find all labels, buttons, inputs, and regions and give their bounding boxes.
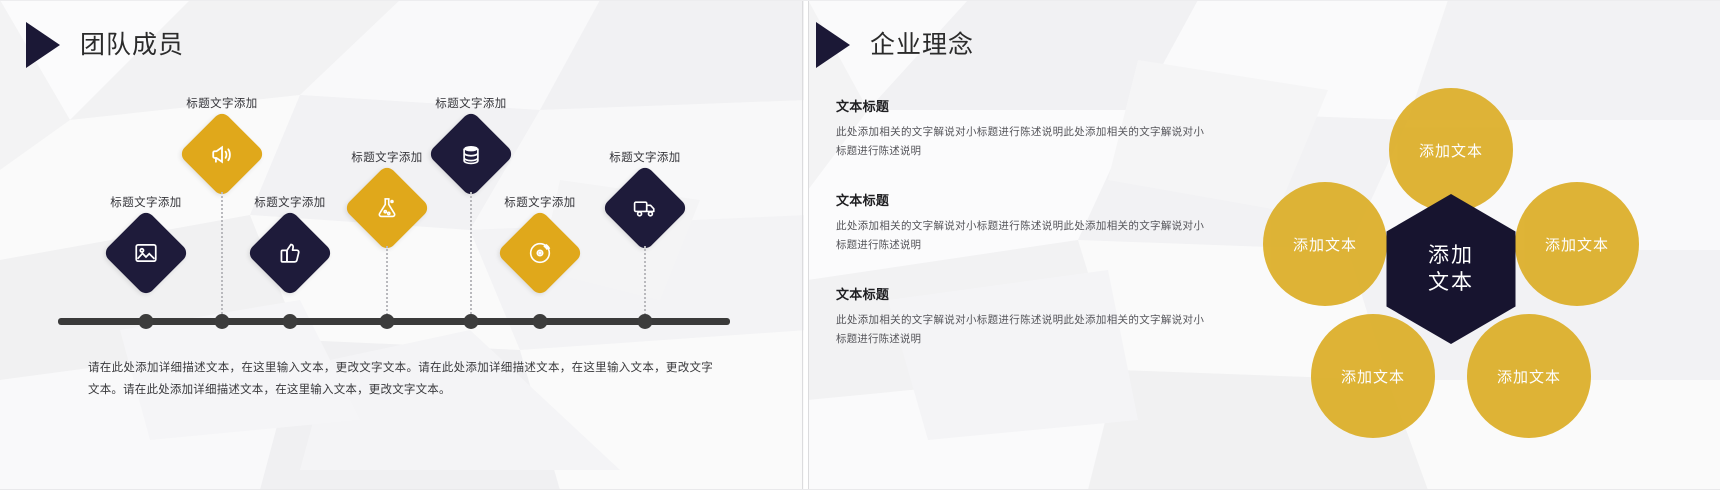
timeline-stem	[644, 246, 646, 318]
play-triangle-icon	[816, 22, 850, 68]
timeline-item-badge[interactable]	[427, 110, 515, 198]
slide-right-header: 企业理念	[816, 22, 974, 68]
slide-company-philosophy: 企业理念 文本标题 此处添加相关的文字解说对小标题进行陈述说明此处添加相关的文字…	[808, 0, 1720, 490]
flask-icon	[374, 195, 400, 221]
text-block-title: 文本标题	[836, 96, 1204, 115]
text-block: 文本标题 此处添加相关的文字解说对小标题进行陈述说明此处添加相关的文字解说对小标…	[836, 190, 1204, 256]
flower-petal[interactable]: 添加文本	[1467, 314, 1591, 438]
timeline-dot[interactable]	[638, 314, 653, 329]
flower-petal-label: 添加文本	[1341, 366, 1405, 387]
timeline-item-label: 标题文字添加	[435, 95, 506, 111]
timeline-dot[interactable]	[283, 314, 298, 329]
flower-petal-label: 添加文本	[1497, 366, 1561, 387]
megaphone-icon	[209, 141, 236, 168]
flower-diagram: 添加文本 添加文本 添加文本 添加文本 添加文本 添加 文本	[1195, 88, 1707, 418]
database-icon	[459, 142, 484, 167]
slide-team-members: 团队成员 标题文字添加 标题文字添加	[0, 0, 808, 490]
flower-petal-label: 添加文本	[1419, 140, 1483, 161]
text-block: 文本标题 此处添加相关的文字解说对小标题进行陈述说明此处添加相关的文字解说对小标…	[836, 96, 1204, 162]
disc-icon	[527, 240, 553, 266]
timeline-dot[interactable]	[215, 314, 230, 329]
philosophy-text-blocks: 文本标题 此处添加相关的文字解说对小标题进行陈述说明此处添加相关的文字解说对小标…	[836, 96, 1204, 378]
timeline-stem	[221, 192, 223, 318]
timeline-item-label: 标题文字添加	[504, 194, 575, 210]
divider-edge-left	[802, 0, 803, 490]
text-block-title: 文本标题	[836, 190, 1204, 209]
truck-icon	[632, 195, 658, 221]
flower-center-label: 添加 文本	[1428, 242, 1474, 297]
flower-petal-label: 添加文本	[1545, 234, 1609, 255]
timeline-stem	[470, 192, 472, 318]
timeline-dot[interactable]	[464, 314, 479, 329]
top-edge	[0, 0, 1720, 1]
flower-petal[interactable]: 添加文本	[1389, 88, 1513, 212]
left-slide-note: 请在此处添加详细描述文本，在这里输入文本，更改文字文本。请在此处添加详细描述文本…	[88, 357, 713, 402]
timeline-dot[interactable]	[139, 314, 154, 329]
slides-stage: 团队成员 标题文字添加 标题文字添加	[0, 0, 1720, 490]
divider-edge-right	[808, 0, 809, 490]
text-block: 文本标题 此处添加相关的文字解说对小标题进行陈述说明此处添加相关的文字解说对小标…	[836, 284, 1204, 350]
timeline-dot[interactable]	[533, 314, 548, 329]
text-block-title: 文本标题	[836, 284, 1204, 303]
timeline-item-badge[interactable]	[496, 209, 584, 297]
image-icon	[133, 240, 159, 266]
timeline-item-badge[interactable]	[601, 164, 689, 252]
text-block-body: 此处添加相关的文字解说对小标题进行陈述说明此处添加相关的文字解说对小标题进行陈述…	[836, 123, 1204, 162]
timeline-dot[interactable]	[380, 314, 395, 329]
page-title: 企业理念	[870, 33, 974, 58]
text-block-body: 此处添加相关的文字解说对小标题进行陈述说明此处添加相关的文字解说对小标题进行陈述…	[836, 311, 1204, 350]
timeline-item-badge[interactable]	[178, 110, 266, 198]
timeline-item-badge[interactable]	[246, 209, 334, 297]
timeline-item-label: 标题文字添加	[609, 149, 680, 165]
timeline-stem	[386, 246, 388, 318]
timeline-item-badge[interactable]	[343, 164, 431, 252]
flower-petal[interactable]: 添加文本	[1515, 182, 1639, 306]
timeline-item-label: 标题文字添加	[351, 149, 422, 165]
timeline-diagram: 标题文字添加 标题文字添加	[0, 0, 808, 360]
timeline-item-badge[interactable]	[102, 209, 190, 297]
flower-petal[interactable]: 添加文本	[1263, 182, 1387, 306]
flower-petal-label: 添加文本	[1293, 234, 1357, 255]
thumbs-up-icon	[277, 240, 303, 266]
timeline-item-label: 标题文字添加	[186, 95, 257, 111]
text-block-body: 此处添加相关的文字解说对小标题进行陈述说明此处添加相关的文字解说对小标题进行陈述…	[836, 217, 1204, 256]
timeline-item-label: 标题文字添加	[254, 194, 325, 210]
timeline-item-label: 标题文字添加	[110, 194, 181, 210]
flower-petal[interactable]: 添加文本	[1311, 314, 1435, 438]
